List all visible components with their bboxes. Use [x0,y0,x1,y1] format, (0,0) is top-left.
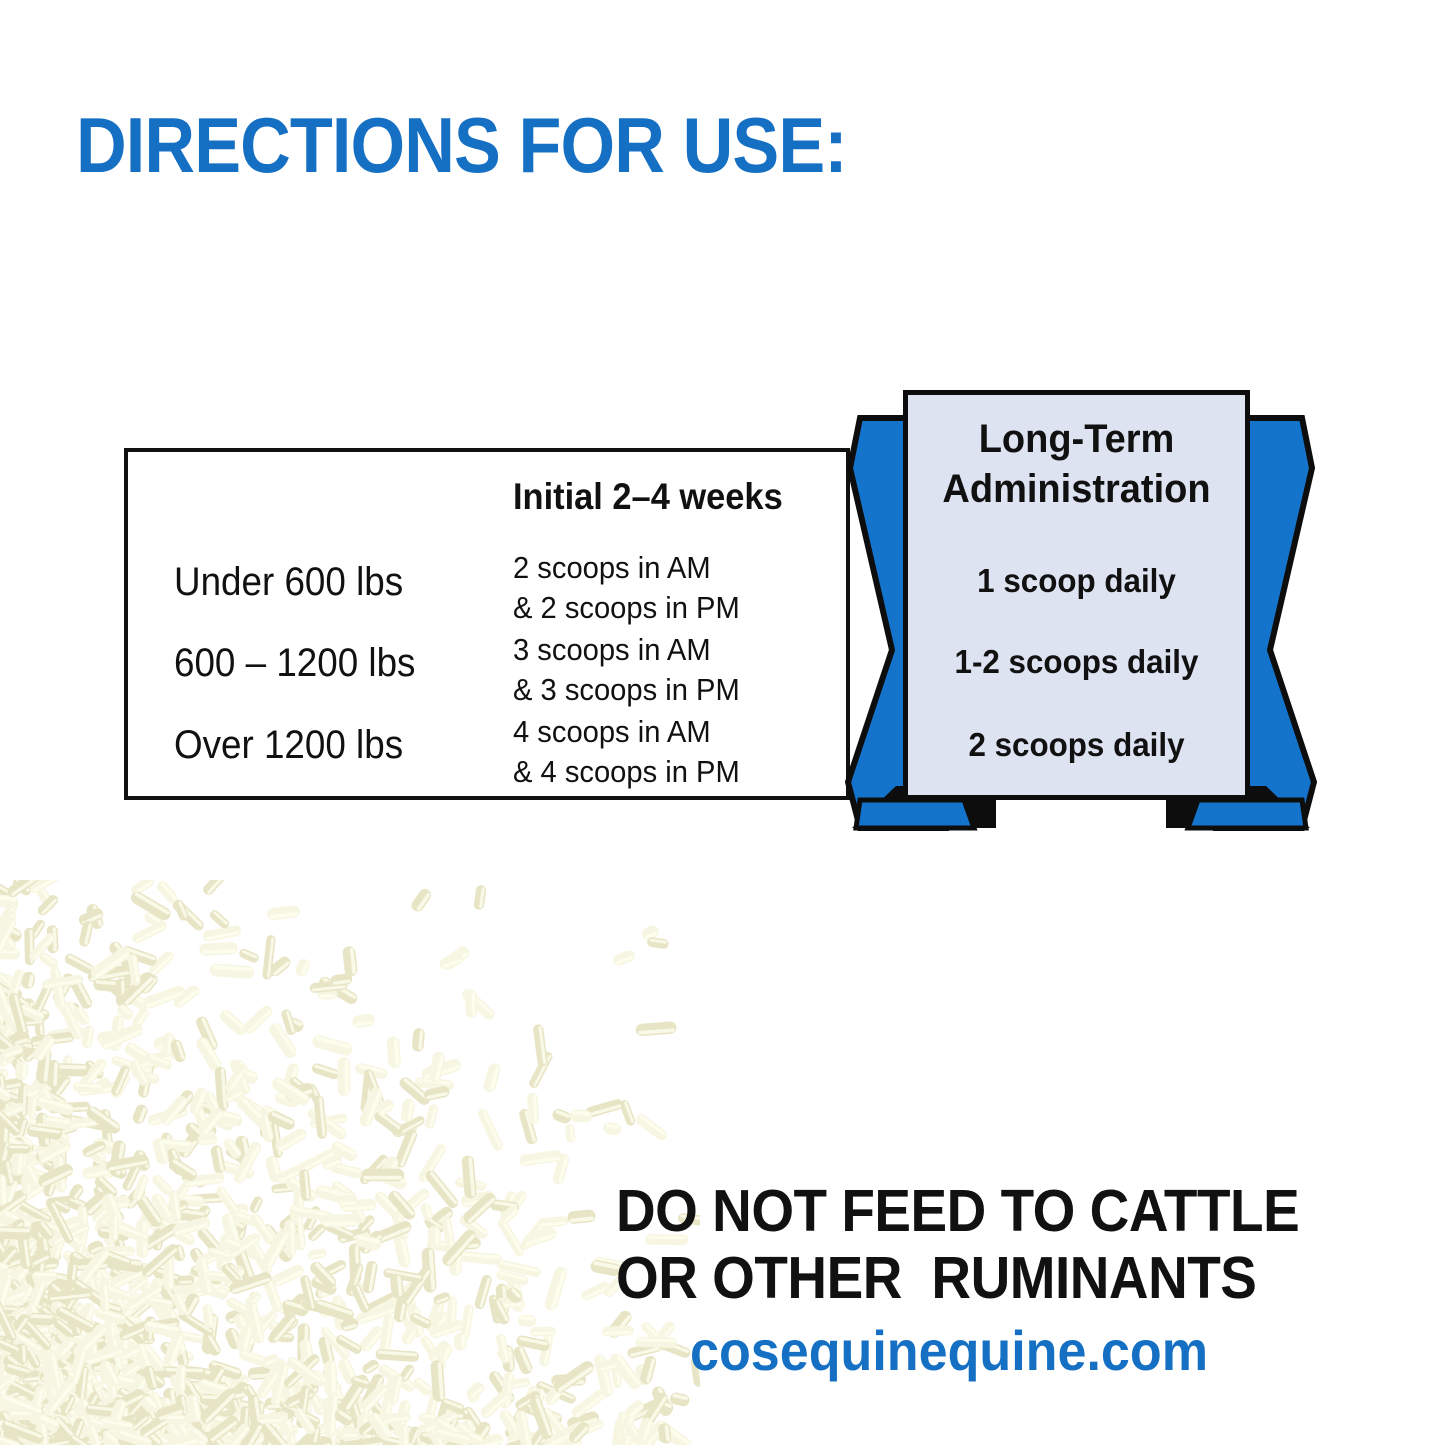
dose-pm: & 2 scoops in PM [513,588,740,628]
long-term-panel-title: Long-Term Administration [912,415,1242,514]
dose-am: 4 scoops in AM [513,712,740,752]
long-term-dose: 1 scoop daily [912,562,1242,600]
dose-pm: & 4 scoops in PM [513,752,740,792]
warning-text-block: DO NOT FEED TO CATTLE OR OTHER RUMINANTS [616,1178,1376,1313]
table-row-dose: 2 scoops in AM & 2 scoops in PM [513,548,740,629]
long-term-dose: 1-2 scoops daily [912,643,1242,681]
table-row-dose: 3 scoops in AM & 3 scoops in PM [513,630,740,711]
table-row: Under 600 lbs [174,560,403,605]
warning-line-2: OR OTHER RUMINANTS [616,1245,1323,1312]
page-title: DIRECTIONS FOR USE: [76,106,847,184]
website-url[interactable]: cosequinequine.com [690,1318,1208,1383]
table-column-header-initial: Initial 2–4 weeks [513,476,783,518]
dose-am: 2 scoops in AM [513,548,740,588]
product-pellets-image [0,880,700,1445]
table-row: Over 1200 lbs [174,723,403,768]
warning-line-1: DO NOT FEED TO CATTLE [616,1178,1323,1245]
long-term-dose: 2 scoops daily [912,726,1242,764]
table-row-dose: 4 scoops in AM & 4 scoops in PM [513,712,740,793]
long-term-title-line-2: Administration [912,465,1242,515]
dose-am: 3 scoops in AM [513,630,740,670]
dose-pm: & 3 scoops in PM [513,670,740,710]
long-term-title-line-1: Long-Term [912,415,1242,465]
table-row: 600 – 1200 lbs [174,641,415,686]
